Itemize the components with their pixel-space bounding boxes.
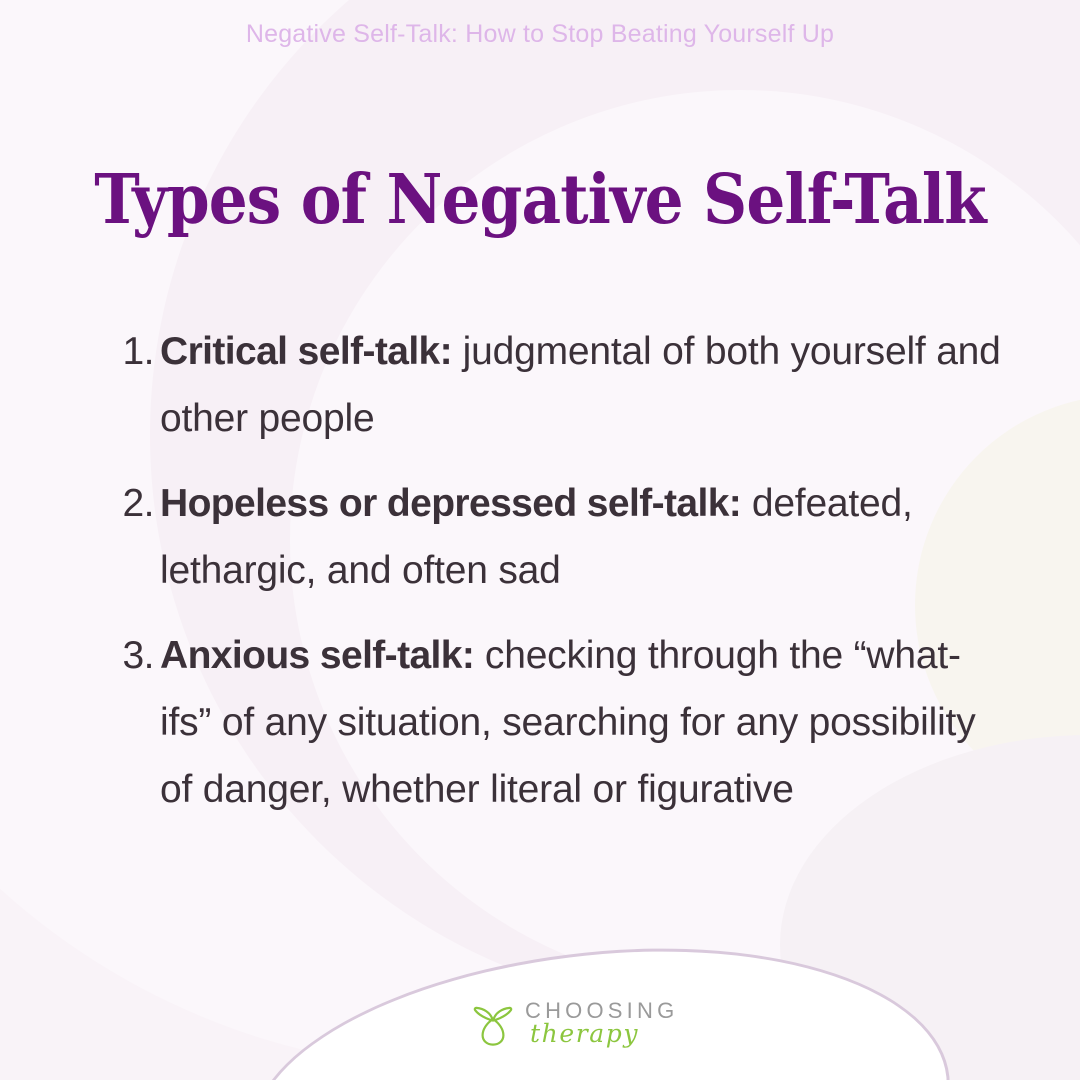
list-item-number: 1.	[108, 318, 160, 385]
logo-wordmark: CHOOSING therapy	[525, 1000, 678, 1046]
page-title: Types of Negative Self-Talk	[54, 166, 1026, 235]
lotus-icon	[470, 999, 516, 1047]
list-item-number: 2.	[108, 470, 160, 537]
brand-logo: CHOOSING therapy	[470, 999, 678, 1047]
list-item-lead: Hopeless or depressed self-talk:	[160, 482, 741, 525]
list-item-body: Hopeless or depressed self-talk: defeate…	[160, 470, 1005, 604]
list-item: 1. Critical self-talk: judgmental of bot…	[108, 318, 1008, 452]
social-card: Negative Self-Talk: How to Stop Beating …	[0, 0, 1080, 1080]
logo-word-therapy: therapy	[530, 1021, 678, 1046]
list-item: 3. Anxious self-talk: checking through t…	[108, 622, 1008, 823]
list-item-body: Critical self-talk: judgmental of both y…	[160, 318, 1005, 452]
article-eyebrow: Negative Self-Talk: How to Stop Beating …	[0, 20, 1080, 49]
list-item-number: 3.	[108, 622, 160, 689]
list-item: 2. Hopeless or depressed self-talk: defe…	[108, 470, 1008, 604]
list-item-lead: Anxious self-talk:	[160, 634, 474, 677]
list-item-lead: Critical self-talk:	[160, 330, 452, 373]
types-list: 1. Critical self-talk: judgmental of bot…	[108, 318, 1008, 823]
list-item-body: Anxious self-talk: checking through the …	[160, 622, 1005, 823]
